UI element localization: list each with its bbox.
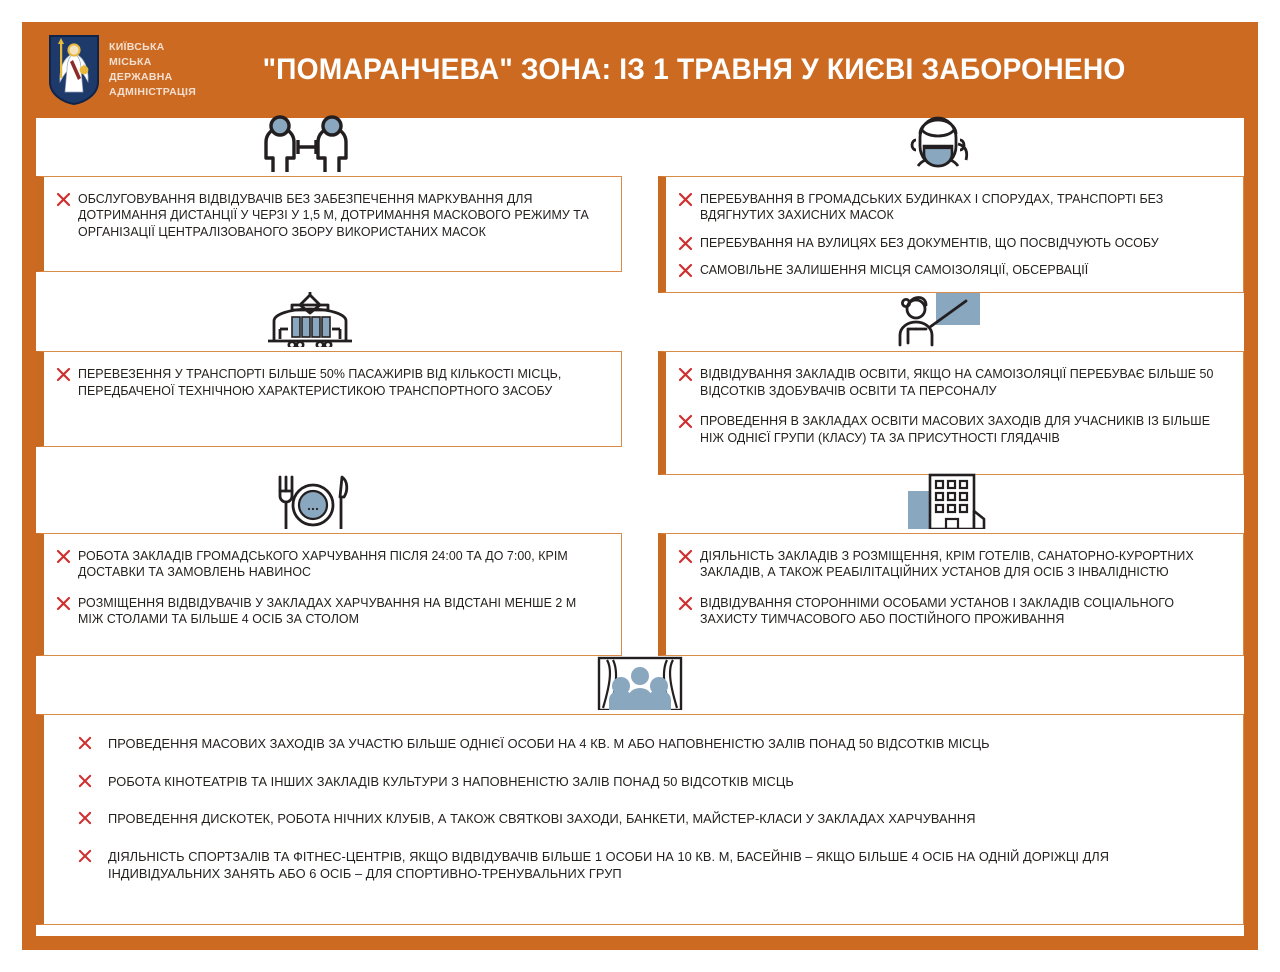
rule-text: ДІЯЛЬНІСТЬ ЗАКЛАДІВ З РОЗМІЩЕННЯ, КРІМ Г… (700, 548, 1223, 581)
list-item: РОБОТА КІНОТЕАТРІВ ТА ІНШИХ ЗАКЛАДІВ КУЛ… (78, 773, 1225, 790)
rule-box: ДІЯЛЬНІСТЬ ЗАКЛАДІВ З РОЗМІЩЕННЯ, КРІМ Г… (658, 533, 1244, 656)
list-item: РОЗМІЩЕННЯ ВІДВІДУВАЧІВ У ЗАКЛАДАХ ХАРЧУ… (56, 595, 609, 628)
restaurant-plate-icon (262, 471, 364, 533)
content-panel: ОБСЛУГОВУВАННЯ ВІДВІДУВАЧІВ БЕЗ ЗАБЕЗПЕЧ… (36, 118, 1244, 936)
rule-text: ПЕРЕВЕЗЕННЯ У ТРАНСПОРТІ БІЛЬШЕ 50% ПАСА… (78, 366, 601, 399)
page-title: "ПОМАРАНЧЕВА" ЗОНА: ІЗ 1 ТРАВНЯ У КИЄВІ … (228, 53, 1226, 87)
rule-text: САМОВІЛЬНЕ ЗАЛИШЕННЯ МІСЦЯ САМОІЗОЛЯЦІЇ,… (700, 262, 1088, 278)
cross-icon (678, 596, 693, 611)
cross-icon (56, 367, 71, 382)
rule-list: ПЕРЕВЕЗЕННЯ У ТРАНСПОРТІ БІЛЬШЕ 50% ПАСА… (56, 366, 609, 399)
list-item: ПЕРЕБУВАННЯ В ГРОМАДСЬКИХ БУДИНКАХ І СПО… (678, 191, 1231, 224)
rule-text: ПРОВЕДЕННЯ В ЗАКЛАДАХ ОСВІТИ МАСОВИХ ЗАХ… (700, 413, 1223, 446)
rule-card-accommodation: ДІЯЛЬНІСТЬ ЗАКЛАДІВ З РОЗМІЩЕННЯ, КРІМ Г… (658, 533, 1244, 656)
rule-box: ПЕРЕВЕЗЕННЯ У ТРАНСПОРТІ БІЛЬШЕ 50% ПАСА… (36, 351, 622, 447)
poster-header: КИЇВСЬКА МІСЬКА ДЕРЖАВНА АДМІНІСТРАЦІЯ "… (22, 22, 1258, 118)
rule-box: РОБОТА ЗАКЛАДІВ ГРОМАДСЬКОГО ХАРЧУВАННЯ … (36, 533, 622, 656)
emblem-label: КИЇВСЬКА МІСЬКА ДЕРЖАВНА АДМІНІСТРАЦІЯ (109, 40, 196, 100)
list-item: ПЕРЕВЕЗЕННЯ У ТРАНСПОРТІ БІЛЬШЕ 50% ПАСА… (56, 366, 609, 399)
rule-text: ВІДВІДУВАННЯ ЗАКЛАДІВ ОСВІТИ, ЯКЩО НА СА… (700, 366, 1223, 399)
cross-icon (678, 414, 693, 429)
rules-row: ОБСЛУГОВУВАННЯ ВІДВІДУВАЧІВ БЕЗ ЗАБЕЗПЕЧ… (36, 118, 1244, 293)
list-item: ПРОВЕДЕННЯ ДИСКОТЕК, РОБОТА НІЧНИХ КЛУБІ… (78, 810, 1225, 827)
rule-text: ПЕРЕБУВАННЯ НА ВУЛИЦЯХ БЕЗ ДОКУМЕНТІВ, Щ… (700, 235, 1159, 251)
rule-text: ВІДВІДУВАННЯ СТОРОННІМИ ОСОБАМИ УСТАНОВ … (700, 595, 1223, 628)
rule-text: ПЕРЕБУВАННЯ В ГРОМАДСЬКИХ БУДИНКАХ І СПО… (700, 191, 1223, 224)
rule-box: ПЕРЕБУВАННЯ В ГРОМАДСЬКИХ БУДИНКАХ І СПО… (658, 176, 1244, 293)
rule-box: ВІДВІДУВАННЯ ЗАКЛАДІВ ОСВІТИ, ЯКЩО НА СА… (658, 351, 1244, 474)
rule-text: ДІЯЛЬНІСТЬ СПОРТЗАЛІВ ТА ФІТНЕС-ЦЕНТРІВ,… (108, 848, 1208, 883)
cross-icon (78, 811, 92, 825)
rule-text: ПРОВЕДЕННЯ МАСОВИХ ЗАХОДІВ ЗА УЧАСТЮ БІЛ… (108, 735, 990, 752)
list-item: САМОВІЛЬНЕ ЗАЛИШЕННЯ МІСЦЯ САМОІЗОЛЯЦІЇ,… (678, 262, 1231, 278)
cross-icon (56, 549, 71, 564)
cross-icon (678, 236, 693, 251)
cross-icon (56, 192, 71, 207)
cross-icon (56, 596, 71, 611)
list-item: ПРОВЕДЕННЯ В ЗАКЛАДАХ ОСВІТИ МАСОВИХ ЗАХ… (678, 413, 1231, 446)
kyiv-coat-of-arms-icon (48, 34, 100, 106)
cross-icon (78, 849, 92, 863)
rule-list: РОБОТА ЗАКЛАДІВ ГРОМАДСЬКОГО ХАРЧУВАННЯ … (56, 548, 609, 627)
cross-icon (678, 192, 693, 207)
rule-text: ПРОВЕДЕННЯ ДИСКОТЕК, РОБОТА НІЧНИХ КЛУБІ… (108, 810, 976, 827)
list-item: ПЕРЕБУВАННЯ НА ВУЛИЦЯХ БЕЗ ДОКУМЕНТІВ, Щ… (678, 235, 1231, 251)
cross-icon (78, 774, 92, 788)
rules-row: ПРОВЕДЕННЯ МАСОВИХ ЗАХОДІВ ЗА УЧАСТЮ БІЛ… (36, 656, 1244, 925)
face-mask-person-icon (888, 114, 988, 176)
list-item: ОБСЛУГОВУВАННЯ ВІДВІДУВАЧІВ БЕЗ ЗАБЕЗПЕЧ… (56, 191, 609, 240)
rule-text: РОЗМІЩЕННЯ ВІДВІДУВАЧІВ У ЗАКЛАДАХ ХАРЧУ… (78, 595, 601, 628)
cross-icon (678, 549, 693, 564)
theatre-audience-icon (585, 652, 695, 714)
list-item: РОБОТА ЗАКЛАДІВ ГРОМАДСЬКОГО ХАРЧУВАННЯ … (56, 548, 609, 581)
list-item: ПРОВЕДЕННЯ МАСОВИХ ЗАХОДІВ ЗА УЧАСТЮ БІЛ… (78, 735, 1225, 752)
list-item: ДІЯЛЬНІСТЬ ЗАКЛАДІВ З РОЗМІЩЕННЯ, КРІМ Г… (678, 548, 1231, 581)
cross-icon (78, 736, 92, 750)
rule-list: ВІДВІДУВАННЯ ЗАКЛАДІВ ОСВІТИ, ЯКЩО НА СА… (678, 366, 1231, 445)
teacher-blackboard-icon (886, 289, 990, 351)
rule-card-social-distance: ОБСЛУГОВУВАННЯ ВІДВІДУВАЧІВ БЕЗ ЗАБЕЗПЕЧ… (36, 176, 622, 293)
social-distance-icon (248, 114, 366, 176)
rule-list: ПЕРЕБУВАННЯ В ГРОМАДСЬКИХ БУДИНКАХ І СПО… (678, 191, 1231, 278)
rule-text: ОБСЛУГОВУВАННЯ ВІДВІДУВАЧІВ БЕЗ ЗАБЕЗПЕЧ… (78, 191, 601, 240)
rule-text: РОБОТА КІНОТЕАТРІВ ТА ІНШИХ ЗАКЛАДІВ КУЛ… (108, 773, 794, 790)
rule-card-masks: ПЕРЕБУВАННЯ В ГРОМАДСЬКИХ БУДИНКАХ І СПО… (658, 176, 1244, 293)
list-item: ВІДВІДУВАННЯ СТОРОННІМИ ОСОБАМИ УСТАНОВ … (678, 595, 1231, 628)
rule-card-transport: ПЕРЕВЕЗЕННЯ У ТРАНСПОРТІ БІЛЬШЕ 50% ПАСА… (36, 351, 622, 474)
cross-icon (678, 367, 693, 382)
rule-card-mass-events: ПРОВЕДЕННЯ МАСОВИХ ЗАХОДІВ ЗА УЧАСТЮ БІЛ… (36, 714, 1244, 925)
tram-icon (254, 289, 366, 351)
list-item: ВІДВІДУВАННЯ ЗАКЛАДІВ ОСВІТИ, ЯКЩО НА СА… (678, 366, 1231, 399)
rule-box: ОБСЛУГОВУВАННЯ ВІДВІДУВАЧІВ БЕЗ ЗАБЕЗПЕЧ… (36, 176, 622, 272)
hotel-building-icon (886, 471, 996, 533)
rules-grid: ОБСЛУГОВУВАННЯ ВІДВІДУВАЧІВ БЕЗ ЗАБЕЗПЕЧ… (36, 118, 1244, 925)
rule-list: ПРОВЕДЕННЯ МАСОВИХ ЗАХОДІВ ЗА УЧАСТЮ БІЛ… (78, 735, 1225, 882)
list-item: ДІЯЛЬНІСТЬ СПОРТЗАЛІВ ТА ФІТНЕС-ЦЕНТРІВ,… (78, 848, 1225, 883)
rule-list: ОБСЛУГОВУВАННЯ ВІДВІДУВАЧІВ БЕЗ ЗАБЕЗПЕЧ… (56, 191, 609, 240)
rule-card-education: ВІДВІДУВАННЯ ЗАКЛАДІВ ОСВІТИ, ЯКЩО НА СА… (658, 351, 1244, 474)
rule-box: ПРОВЕДЕННЯ МАСОВИХ ЗАХОДІВ ЗА УЧАСТЮ БІЛ… (36, 714, 1244, 925)
rule-list: ДІЯЛЬНІСТЬ ЗАКЛАДІВ З РОЗМІЩЕННЯ, КРІМ Г… (678, 548, 1231, 627)
rules-row: РОБОТА ЗАКЛАДІВ ГРОМАДСЬКОГО ХАРЧУВАННЯ … (36, 475, 1244, 656)
cross-icon (678, 263, 693, 278)
rule-text: РОБОТА ЗАКЛАДІВ ГРОМАДСЬКОГО ХАРЧУВАННЯ … (78, 548, 601, 581)
infographic-poster: КИЇВСЬКА МІСЬКА ДЕРЖАВНА АДМІНІСТРАЦІЯ "… (0, 0, 1280, 972)
rules-row: ПЕРЕВЕЗЕННЯ У ТРАНСПОРТІ БІЛЬШЕ 50% ПАСА… (36, 293, 1244, 474)
rule-card-catering: РОБОТА ЗАКЛАДІВ ГРОМАДСЬКОГО ХАРЧУВАННЯ … (36, 533, 622, 656)
